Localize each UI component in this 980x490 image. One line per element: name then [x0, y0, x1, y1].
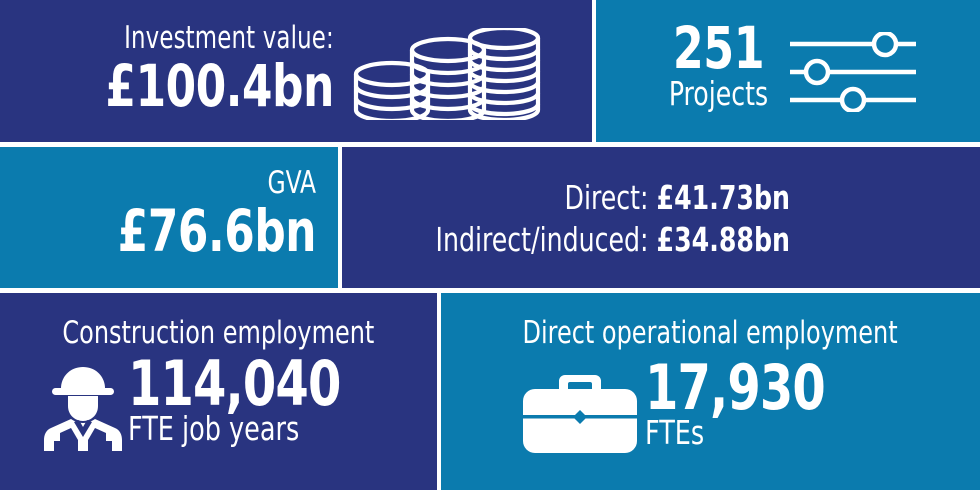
panel-construction-employment: Construction employment [0, 293, 437, 490]
operational-unit: FTEs [645, 416, 825, 451]
operational-heading: Direct operational employment [523, 317, 898, 350]
infographic-container: Investment value: £100.4bn [0, 0, 980, 490]
investment-label: Investment value: [111, 22, 334, 55]
construction-heading: Construction employment [63, 317, 375, 350]
indirect-value: £34.88bn [657, 220, 790, 259]
investment-text-block: Investment value: £100.4bn [62, 22, 334, 115]
direct-label: Direct: [565, 178, 657, 217]
indirect-label: Indirect/induced: [436, 220, 657, 259]
operational-stat-row: 17,930 FTEs [521, 359, 854, 455]
briefcase-icon [521, 371, 639, 455]
construction-stat-text: 114,040 FTE job years [128, 355, 375, 447]
panel-operational-employment: Direct operational employment 17,930 FTE… [441, 293, 980, 490]
gva-value: £76.6bn [118, 202, 316, 260]
breakdown-text-block: Direct: £41.73bn Indirect/induced: £34.8… [373, 177, 790, 261]
gva-label: GVA [118, 167, 316, 200]
sliders-icon [788, 32, 918, 112]
construction-worker-icon [44, 365, 122, 451]
projects-count: 251 [665, 20, 771, 77]
operational-heading-wrap: Direct operational employment [441, 317, 980, 350]
operational-stat-text: 17,930 FTEs [645, 359, 854, 451]
construction-heading-wrap: Construction employment [0, 317, 437, 350]
gva-text-block: GVA £76.6bn [80, 167, 316, 260]
construction-unit: FTE job years [128, 412, 340, 447]
panel-investment-value: Investment value: £100.4bn [0, 0, 592, 142]
panel-projects: 251 Projects [596, 0, 980, 142]
projects-label: Projects [665, 77, 771, 112]
direct-value: £41.73bn [657, 178, 790, 217]
operational-number: 17,930 [645, 359, 825, 416]
projects-text-block: 251 Projects [656, 20, 781, 111]
construction-number: 114,040 [128, 355, 340, 412]
panel-gva-breakdown: Direct: £41.73bn Indirect/induced: £34.8… [342, 147, 980, 288]
indirect-row: Indirect/induced: £34.88bn [436, 219, 790, 261]
direct-row: Direct: £41.73bn [436, 177, 790, 219]
investment-value: £100.4bn [106, 57, 334, 115]
construction-stat-row: 114,040 FTE job years [44, 355, 375, 451]
coin-stacks-icon [352, 28, 542, 120]
panel-gva: GVA £76.6bn [0, 147, 338, 288]
